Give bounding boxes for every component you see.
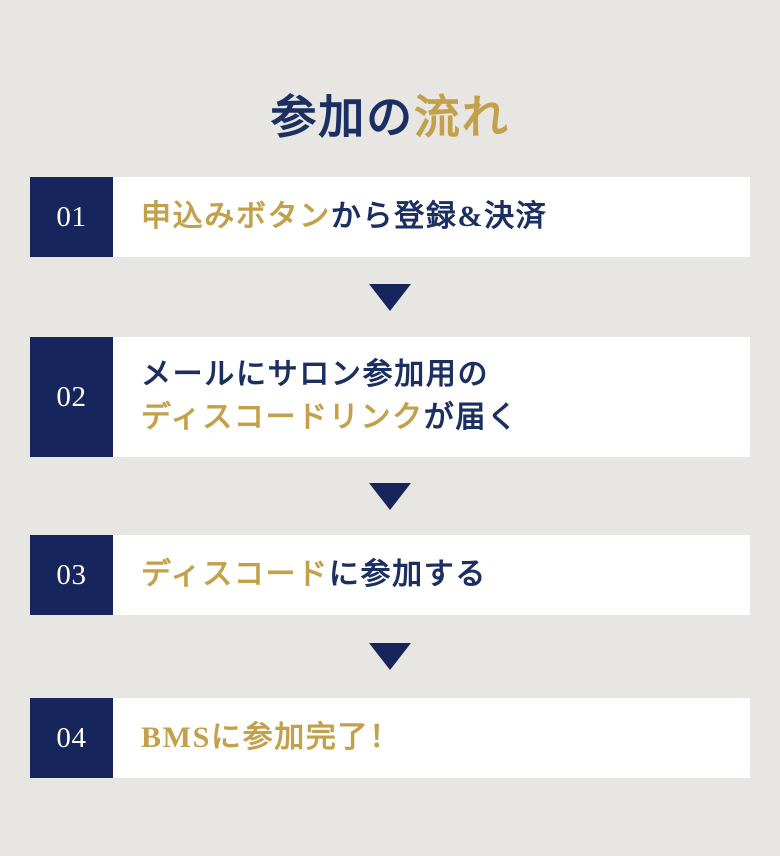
step-text-01: 申込みボタンから登録&決済	[113, 177, 750, 257]
step-number-04: 04	[30, 698, 113, 778]
page-title-navy-part: 参加の	[270, 92, 414, 143]
step-line: BMSに参加完了！	[141, 717, 734, 760]
step-number-03: 03	[30, 535, 113, 615]
step-line: メールにサロン参加用の	[141, 354, 734, 397]
step-line-navy: に参加する	[329, 558, 487, 591]
arrow-step3-to-step4	[30, 615, 750, 698]
page-title: 参加の流れ	[0, 93, 780, 144]
step-text-02: メールにサロン参加用の ディスコードリンクが届く	[113, 337, 750, 457]
step-number-01: 01	[30, 177, 113, 257]
arrow-step1-to-step2	[30, 257, 750, 337]
arrow-step2-to-step3	[30, 457, 750, 535]
triangle-down-icon	[369, 483, 411, 510]
step-item-02: 02 メールにサロン参加用の ディスコードリンクが届く	[30, 337, 750, 457]
flow-section: 参加の流れ 01 申込みボタンから登録&決済 02 メールにサロン参加用の ディ	[0, 0, 780, 856]
triangle-down-icon	[369, 643, 411, 670]
page-title-gold-part: 流れ	[414, 92, 510, 143]
steps-list: 01 申込みボタンから登録&決済 02 メールにサロン参加用の ディスコードリン…	[30, 177, 750, 778]
step-item-03: 03 ディスコードに参加する	[30, 535, 750, 615]
step-line-gold: ディスコード	[141, 558, 329, 591]
triangle-down-icon	[369, 284, 411, 311]
step-line-gold: ディスコードリンク	[141, 401, 424, 434]
step-item-01: 01 申込みボタンから登録&決済	[30, 177, 750, 257]
step-line: ディスコードリンクが届く	[141, 397, 734, 440]
step-line-gold: BMSに参加完了！	[141, 721, 401, 754]
step-line-navy: から登録&決済	[331, 200, 548, 233]
step-number-02: 02	[30, 337, 113, 457]
step-item-04: 04 BMSに参加完了！	[30, 698, 750, 778]
step-line-navy: が届く	[424, 401, 519, 434]
step-line: ディスコードに参加する	[141, 554, 734, 597]
step-line-gold: 申込みボタン	[141, 200, 331, 233]
step-line: 申込みボタンから登録&決済	[141, 196, 734, 239]
step-text-04: BMSに参加完了！	[113, 698, 750, 778]
step-text-03: ディスコードに参加する	[113, 535, 750, 615]
step-line-navy: メールにサロン参加用の	[141, 358, 489, 391]
